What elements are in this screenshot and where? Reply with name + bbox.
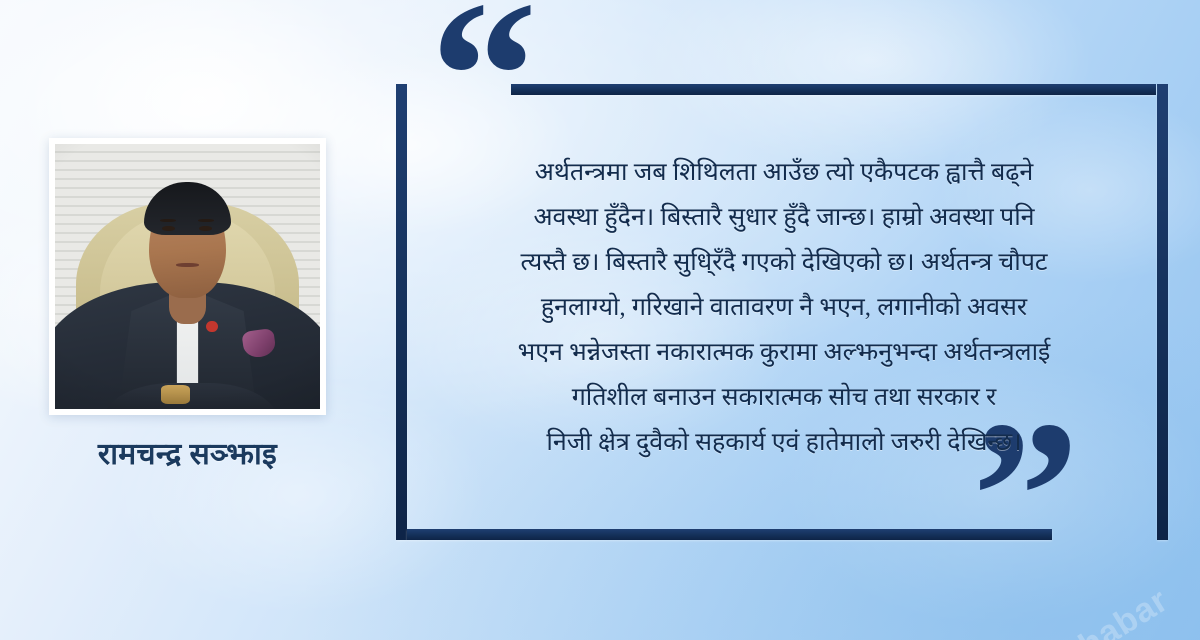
- speaker-name: रामचन्द्र सञ्झाइ: [49, 432, 326, 473]
- portrait-vignette: [55, 144, 320, 409]
- quote-line: हुनलाग्यो, गरिखाने वातावरण नै भएन, लगानी…: [414, 285, 1154, 330]
- quote-line: भएन भन्नेजस्ता नकारात्मक कुरामा अल्झनुभन…: [414, 330, 1154, 375]
- quote-line: त्यस्तै छ। बिस्तारै सुधि्रँदै गएको देखिए…: [414, 240, 1154, 285]
- quote-card-canvas: रामचन्द्र सञ्झाइ “ ” अर्थतन्त्रमा जब शिथ…: [0, 0, 1200, 640]
- quote-line: गतिशील बनाउन सकारात्मक सोच तथा सरकार र: [414, 375, 1154, 420]
- quote-text-block: अर्थतन्त्रमा जब शिथिलता आउँछ त्यो एकैपटक…: [414, 150, 1154, 465]
- quote-line: अर्थतन्त्रमा जब शिथिलता आउँछ त्यो एकैपटक…: [414, 150, 1154, 195]
- speaker-portrait-photo: [55, 144, 320, 409]
- frame-border-left: [396, 84, 407, 540]
- quote-line: निजी क्षेत्र दुवैको सहकार्य एवं हातेमालो…: [414, 420, 1154, 465]
- frame-border-top: [511, 84, 1156, 95]
- frame-border-right: [1157, 84, 1168, 540]
- quote-line: अवस्था हुँदैन। बिस्तारै सुधार हुँदै जान्…: [414, 195, 1154, 240]
- frame-border-bottom: [407, 529, 1052, 540]
- speaker-portrait-frame: [49, 138, 326, 415]
